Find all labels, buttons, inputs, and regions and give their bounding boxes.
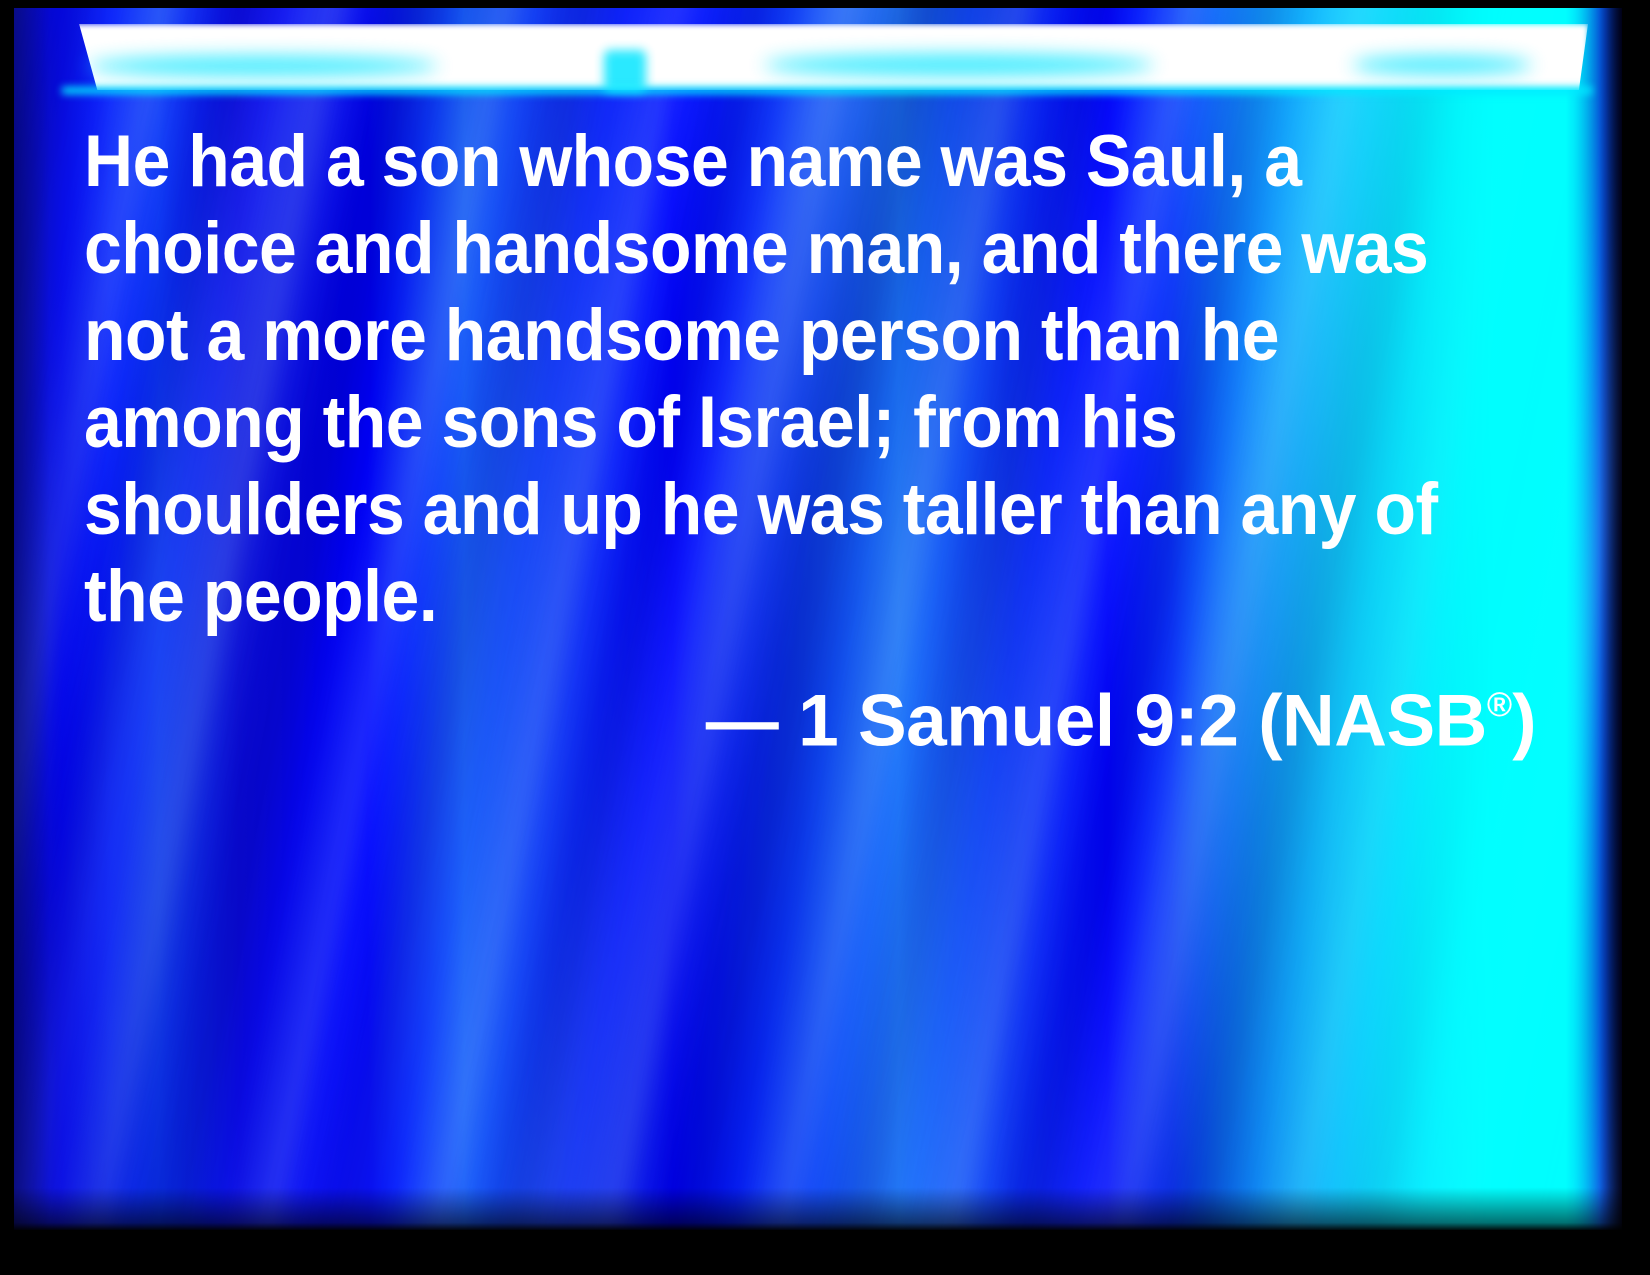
attribution-dash: — (706, 681, 779, 762)
verse-slide: He had a son whose name was Saul, a choi… (0, 0, 1650, 1275)
verse-text-block: He had a son whose name was Saul, a choi… (84, 118, 1544, 765)
attribution-close-paren: ) (1512, 681, 1536, 762)
attribution-open-paren: ( (1258, 681, 1282, 762)
verse-line: among the sons of Israel; from his (84, 379, 1442, 466)
verse-line: choice and handsome man, and there was (84, 205, 1442, 292)
verse-line: the people. (84, 553, 1442, 640)
verse-attribution: — 1 Samuel 9:2 (NASB®) (84, 662, 1544, 765)
verse-line: not a more handsome person than he (84, 292, 1442, 379)
verse-line: He had a son whose name was Saul, a (84, 118, 1442, 205)
attribution-translation: NASB (1282, 681, 1487, 762)
verse-line: shoulders and up he was taller than any … (84, 466, 1442, 553)
attribution-reference: 1 Samuel 9:2 (798, 681, 1238, 762)
registered-trademark-icon: ® (1487, 686, 1512, 724)
attribution-spacer (778, 681, 798, 762)
attribution-spacer-2 (1238, 681, 1258, 762)
